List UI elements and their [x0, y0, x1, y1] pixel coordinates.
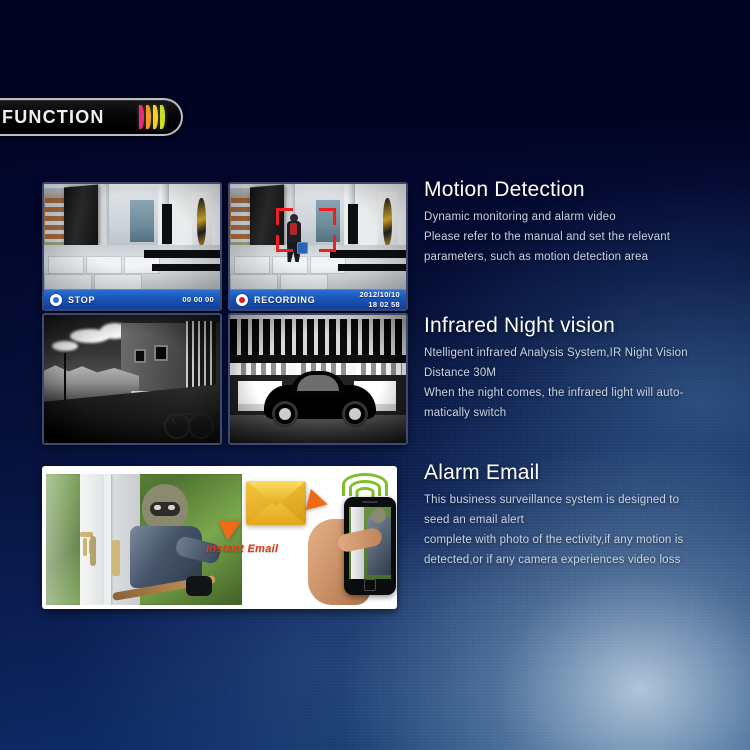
- motion-detection-title: Motion Detection: [424, 178, 744, 201]
- night-vision-line-3: When the night comes, the infrared light…: [424, 383, 744, 403]
- cctv-idle-status-label: STOP: [68, 295, 95, 305]
- alarm-email-line-1: This business surveillance system is des…: [424, 490, 744, 510]
- envelope-icon: [246, 481, 306, 525]
- motion-detection-shots: STOP 00 00 00: [42, 182, 408, 311]
- cctv-recording-timestamp: 2012/10/10 18 02 58: [359, 290, 400, 309]
- cctv-recording-status-bar: RECORDING 2012/10/10 18 02 58: [230, 289, 406, 309]
- stop-circle-icon: [50, 294, 62, 306]
- cctv-idle-image: [44, 184, 220, 289]
- cctv-idle-timestamp: 00 00 00: [182, 295, 214, 304]
- night-vision-shots: [42, 313, 408, 445]
- hand-holding-phone: [308, 495, 397, 605]
- banner-bar-1: [139, 105, 144, 129]
- night-vision-line-1: Ntelligent infrared Analysis System,IR N…: [424, 343, 744, 363]
- alarm-email-shot: Instant Email: [42, 466, 397, 609]
- intruder-photo: [46, 474, 242, 605]
- alarm-email-text-block: Alarm Email This business surveillance s…: [424, 461, 744, 570]
- function-banner-bars: [139, 105, 165, 129]
- function-banner-label: FUNCTION: [2, 107, 105, 128]
- motion-detection-line-3: parameters, such as motion detection are…: [424, 247, 744, 267]
- alarm-email-card: Instant Email: [42, 466, 397, 609]
- alarm-email-title: Alarm Email: [424, 461, 744, 484]
- night-vision-shot-street: [228, 313, 408, 445]
- night-vision-street-image: [230, 315, 406, 443]
- cctv-idle-status-bar: STOP 00 00 00: [44, 289, 220, 309]
- cctv-recording-date: 2012/10/10: [359, 290, 400, 299]
- function-banner: FUNCTION: [0, 98, 183, 136]
- instant-email-label: Instant Email: [206, 543, 278, 555]
- cctv-recording-image: [230, 184, 406, 289]
- alarm-email-line-2: seed an email alert: [424, 510, 744, 530]
- banner-bar-2: [146, 105, 151, 129]
- night-vision-title: Infrared Night vision: [424, 314, 744, 337]
- motion-detection-line-2: Please refer to the manual and set the r…: [424, 227, 744, 247]
- cctv-recording-status-label: RECORDING: [254, 295, 315, 305]
- motion-detection-text-block: Motion Detection Dynamic monitoring and …: [424, 178, 744, 267]
- night-vision-alley-image: [44, 315, 220, 443]
- cctv-shot-idle: STOP 00 00 00: [42, 182, 222, 311]
- alarm-email-line-4: detected,or if any camera experiences vi…: [424, 550, 744, 570]
- record-dot-icon: [236, 294, 248, 306]
- motion-detection-line-1: Dynamic monitoring and alarm video: [424, 207, 744, 227]
- night-vision-line-4: matically switch: [424, 403, 744, 423]
- banner-bar-4: [160, 105, 165, 129]
- banner-bar-3: [153, 105, 158, 129]
- alarm-email-line-3: complete with photo of the ectivity,if a…: [424, 530, 744, 550]
- cctv-recording-clock: 18 02 58: [368, 300, 400, 309]
- background-top-shade: [0, 0, 750, 170]
- cctv-shot-recording: RECORDING 2012/10/10 18 02 58: [228, 182, 408, 311]
- page-root: FUNCTION: [0, 0, 750, 750]
- night-vision-shot-alley: [42, 313, 222, 445]
- night-vision-text-block: Infrared Night vision Ntelligent infrare…: [424, 314, 744, 423]
- night-vision-line-2: Distance 30M: [424, 363, 744, 383]
